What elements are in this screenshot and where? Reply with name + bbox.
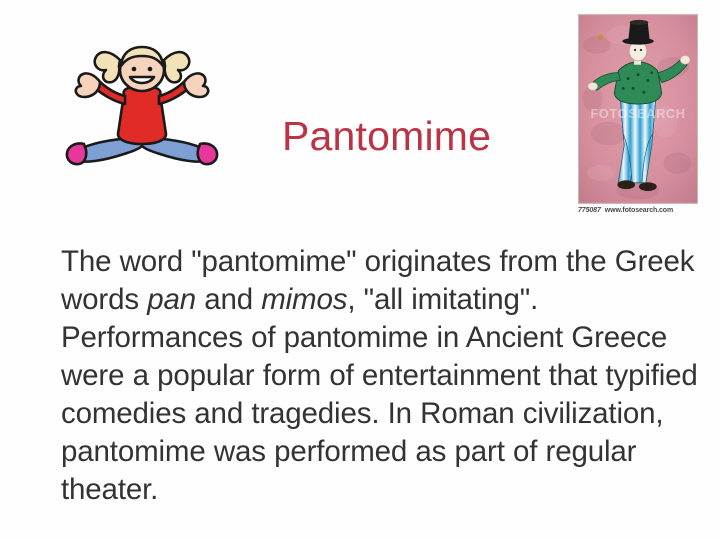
body-segment-3: , "all imitating". Performances of panto… xyxy=(61,283,698,506)
body-segment-2: and xyxy=(196,283,261,316)
body-segment-italic-mimos: mimos xyxy=(261,283,347,316)
photo-credit-caption: 775087www.fotosearch.com xyxy=(578,205,698,217)
svg-text:FOTOSEARCH: FOTOSEARCH xyxy=(590,106,685,121)
body-paragraph: The word "pantomime" originates from the… xyxy=(61,243,713,509)
slide-header-row: Pantomime xyxy=(0,0,720,228)
photo-pantomime-performer: FOTOSEARCH xyxy=(578,14,698,204)
clipart-girl-doing-splits xyxy=(62,42,222,182)
slide-canvas: Pantomime xyxy=(0,0,720,539)
page-title: Pantomime xyxy=(282,112,572,160)
photo-credit-url: www.fotosearch.com xyxy=(605,207,673,214)
photo-credit-id: 775087 xyxy=(578,207,601,214)
body-segment-italic-pan: pan xyxy=(147,283,196,316)
